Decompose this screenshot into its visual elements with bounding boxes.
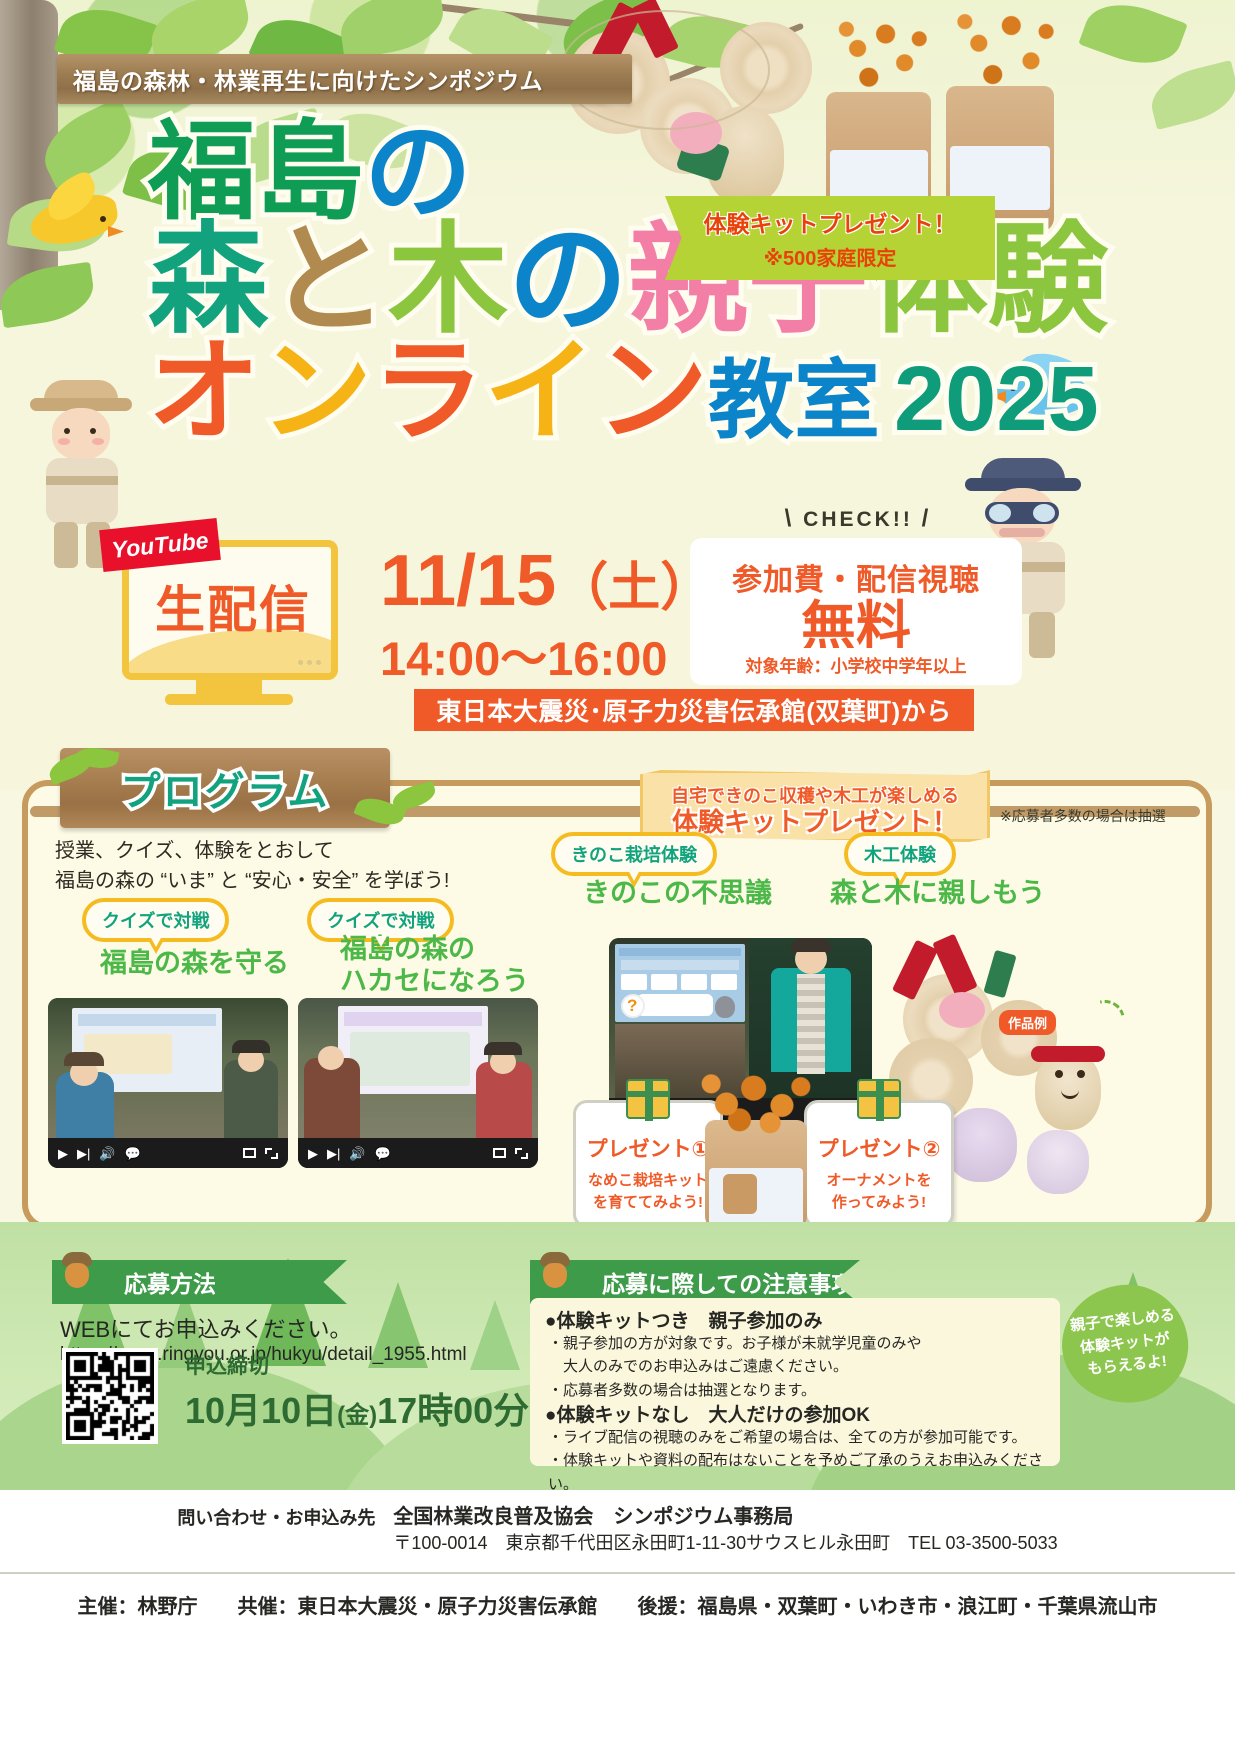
notes-group1-line-1: ・親子参加の方が対象です。お子様が未就学児童のみや	[548, 1332, 1058, 1355]
notes-group1-heading: ●体験キットつき 親子参加のみ	[545, 1306, 822, 1333]
title-no-2: の	[508, 220, 628, 340]
present-1-body: なめこ栽培キット を育ててみよう!	[588, 1170, 708, 1214]
next-icon[interactable]: ▶|	[327, 1147, 340, 1160]
fullscreen-icon[interactable]	[515, 1148, 528, 1159]
program-title-2: 福島の森の ハカセになろう	[340, 934, 529, 998]
footer-contact-org: 全国林業改良普及協会 シンポジウム事務局	[393, 1506, 793, 1528]
program-title-2-line1: 福島の森の	[340, 934, 529, 966]
qr-code[interactable]	[62, 1348, 158, 1444]
event-date-value: 11/15	[380, 541, 556, 621]
video-card-1[interactable]: ▶ ▶| 🔊 💬	[48, 998, 288, 1168]
miniplayer-icon[interactable]	[243, 1148, 256, 1158]
location-banner: 東日本大震災･原子力災害伝承館(双葉町)から	[414, 689, 974, 731]
main-title: 福島の 森と木の親子体験 オンライン教室2025	[148, 118, 1028, 448]
notes-header-label: 応募に際しての注意事項	[602, 1265, 854, 1299]
event-date: 11/15（土）	[380, 540, 712, 622]
notes-group1-line-3: ・応募者多数の場合は抽選となります。	[548, 1379, 1058, 1402]
title-n1: ン	[260, 336, 372, 448]
event-day-of-week: （土）	[556, 559, 712, 617]
apply-line1: WEBにてお申込みください。	[60, 1312, 351, 1344]
caption-icon[interactable]: 💬	[125, 1147, 141, 1160]
deadline-label: 申込締切	[185, 1350, 269, 1380]
next-icon[interactable]: ▶|	[77, 1147, 90, 1160]
program-lead-text: 授業、クイズ、体験をとおして 福島の森の “いま” と “安心・安全” を学ぼう…	[55, 836, 575, 896]
video-card-1-screen	[48, 998, 288, 1138]
volume-icon[interactable]: 🔊	[99, 1147, 115, 1160]
present-card-2: プレゼント② オーナメントを 作ってみよう!	[804, 1100, 954, 1228]
apply-header-bar: 応募方法	[52, 1260, 347, 1304]
symposium-bar: 福島の森林・林業再生に向けたシンポジウム	[57, 54, 632, 104]
program-sign-label: プログラム	[121, 759, 330, 817]
monitor-base	[165, 694, 293, 705]
program-badge-3: きのこ栽培体験	[551, 832, 717, 876]
monitor-dots	[298, 660, 321, 665]
notes-group2-heading: ●体験キットなし 大人だけの参加OK	[545, 1400, 870, 1427]
play-icon[interactable]: ▶	[308, 1147, 318, 1160]
event-time: 14:00〜16:00	[380, 620, 667, 689]
footer-divider	[0, 1572, 1235, 1574]
kit-ribbon-line1: 体験キットプレゼント！	[704, 205, 957, 239]
location-banner-label: 東日本大震災･原子力災害伝承館(双葉町)から	[436, 692, 951, 728]
fee-age-note: 対象年齢：小学校中学年以上	[690, 648, 1022, 685]
fee-heading: 参加費・配信視聴	[732, 555, 980, 599]
deadline-day-text: (金)	[337, 1402, 377, 1429]
footer-contact: 問い合わせ・お申込み先 全国林業改良普及協会 シンポジウム事務局 〒100-00…	[0, 1500, 1235, 1555]
tree-5	[470, 1300, 520, 1370]
fullscreen-icon[interactable]	[265, 1148, 278, 1159]
kit-present-ribbon: 体験キットプレゼント！ ※500家庭限定	[665, 196, 995, 280]
title-to: と	[268, 220, 388, 340]
check-slash-left: \	[785, 505, 795, 533]
play-icon[interactable]: ▶	[58, 1147, 68, 1160]
gift-icon-1	[626, 1079, 670, 1119]
present-1-line2: を育ててみよう!	[593, 1194, 703, 1211]
symposium-bar-label: 福島の森林・林業再生に向けたシンポジウム	[73, 62, 543, 96]
live-stream-label: 生配信	[128, 570, 338, 642]
program-lead-line2: 福島の森の “いま” と “安心・安全” を学ぼう!	[55, 866, 575, 896]
title-fukushima: 福島	[148, 118, 364, 226]
check-text: CHECK!!	[803, 508, 913, 531]
program-title-2-line2: ハカセになろう	[340, 966, 529, 998]
video-card-2[interactable]: ▶ ▶| 🔊 💬	[298, 998, 538, 1168]
video-card-2-screen	[298, 998, 538, 1138]
footer-organizers: 主催：林野庁 共催：東日本大震災・原子力災害伝承館 後援：福島県・双葉町・いわき…	[0, 1590, 1235, 1619]
nameko-jar-photo	[697, 1068, 815, 1233]
volume-icon[interactable]: 🔊	[349, 1147, 365, 1160]
apply-header-label: 応募方法	[124, 1265, 216, 1299]
present-2-line1: オーナメントを	[826, 1172, 931, 1189]
notes-group2-line-2: ・体験キットや資料の配布はないことを予めご了承のうえお申込みください。	[548, 1449, 1068, 1496]
deadline-value: 10月10日(金)17時00分	[185, 1382, 529, 1434]
title-line-3: オンライン教室2025	[148, 336, 1028, 448]
program-badge-4: 木工体験	[844, 832, 956, 876]
present-2-heading: プレゼント②	[818, 1133, 941, 1163]
kit-ribbon-line2: ※500家庭限定	[764, 242, 897, 271]
qr-code-canvas[interactable]	[66, 1352, 154, 1440]
title-ki: 木	[388, 220, 508, 340]
title-year: 2025	[894, 353, 1099, 445]
notes-group2-lines: ・ライブ配信の視聴のみをご希望の場合は、全ての方が参加可能です。 ・体験キットや…	[548, 1426, 1068, 1496]
footer-contact-addr: 〒100-0014 東京都千代田区永田町1-11-30サウスヒル永田町 TEL …	[393, 1533, 1057, 1553]
video-card-2-controls[interactable]: ▶ ▶| 🔊 💬	[298, 1138, 538, 1168]
video-card-1-controls[interactable]: ▶ ▶| 🔊 💬	[48, 1138, 288, 1168]
program-lead-line1: 授業、クイズ、体験をとおして	[55, 836, 575, 866]
title-mori: 森	[148, 220, 268, 340]
title-no-1: の	[364, 118, 472, 226]
present-1-heading: プレゼント①	[587, 1133, 710, 1163]
title-i: イ	[484, 336, 596, 448]
present-2-line2: 作ってみよう!	[832, 1194, 926, 1211]
poster-root: 福島の森林・林業再生に向けたシンポジウム 福島の 森と木の親子体験 オンライン教…	[0, 0, 1235, 1749]
program-title-3: きのこの不思議	[583, 878, 772, 910]
check-slash-right: /	[922, 505, 932, 533]
yellow-bird-icon	[22, 172, 132, 250]
title-n2: ン	[596, 336, 708, 448]
deadline-date-text: 10月10日	[185, 1390, 337, 1431]
check-label: \ CHECK!! /	[753, 505, 963, 533]
sample-work-tag: 作品例	[999, 1010, 1056, 1035]
acorn-icon-2	[540, 1252, 570, 1288]
gift-icon-2	[857, 1079, 901, 1119]
notes-group1-lines: ・親子参加の方が対象です。お子様が未就学児童のみや 大人のみでのお申込みはご遠慮…	[548, 1332, 1058, 1402]
footer-contact-label: 問い合わせ・お申込み先	[177, 1500, 375, 1530]
youtube-badge-label: YouTube	[110, 526, 209, 563]
present-1-line1: なめこ栽培キット	[588, 1172, 708, 1189]
program-kit-flag-note: ※応募者多数の場合は抽選	[1000, 806, 1166, 826]
title-kyoushitsu: 教室	[708, 358, 880, 444]
program-title-1: 福島の森を守る	[100, 948, 289, 980]
title-ra: ラ	[372, 336, 484, 448]
title-o: オ	[148, 336, 260, 448]
program-badge-1: クイズで対戦	[82, 898, 229, 942]
acorn-icon-1	[62, 1252, 92, 1288]
deadline-time-text: 17時00分	[377, 1390, 529, 1431]
miniplayer-icon[interactable]	[493, 1148, 506, 1158]
notes-group1-line-2: 大人のみでのお申込みはご遠慮ください。	[548, 1355, 1058, 1378]
caption-icon[interactable]: 💬	[375, 1147, 391, 1160]
notes-group2-line-1: ・ライブ配信の視聴のみをご希望の場合は、全ての方が参加可能です。	[548, 1426, 1068, 1449]
program-title-4: 森と木に親しもう	[830, 878, 1045, 910]
present-2-body: オーナメントを 作ってみよう!	[826, 1170, 931, 1214]
